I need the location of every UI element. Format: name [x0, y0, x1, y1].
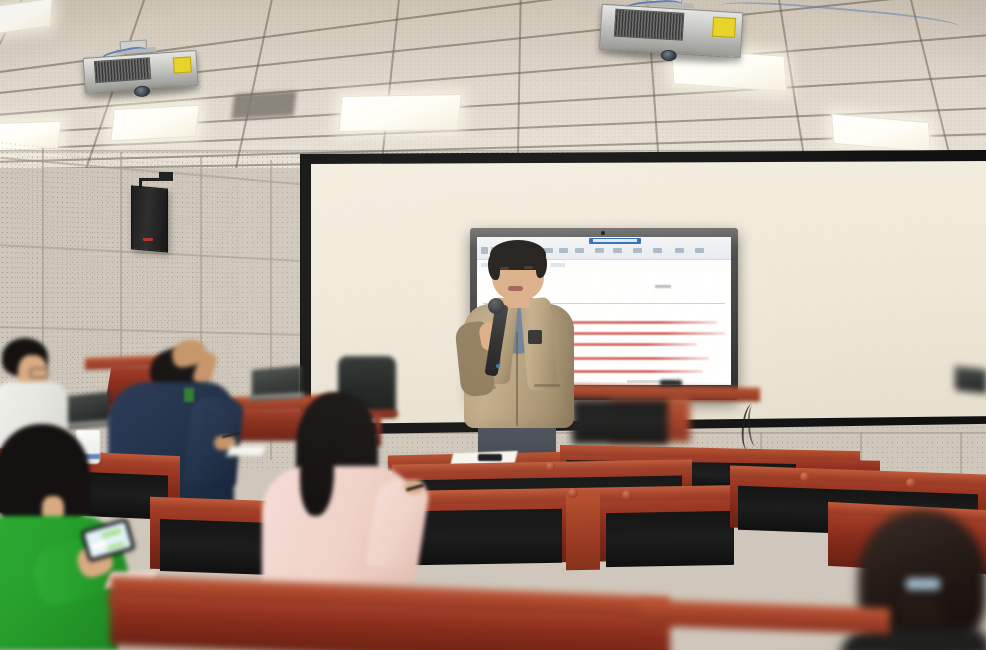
projector-vent-grille	[94, 57, 151, 83]
presenter-eye	[500, 267, 509, 270]
presenter	[452, 236, 592, 476]
toolbar-icon[interactable]	[675, 248, 684, 253]
ceiling-projector-left	[82, 42, 198, 110]
presenter-mouth	[508, 286, 523, 291]
projector-warning-label	[712, 17, 736, 38]
desk-post-cap	[546, 462, 555, 471]
desk-post-cap	[622, 490, 632, 500]
projector-warning-label	[172, 56, 192, 73]
air-return-vent	[232, 91, 297, 118]
lanyard-badge	[184, 388, 194, 402]
recessed-led-panel	[110, 105, 199, 142]
projector-vent-grille	[614, 9, 685, 41]
toolbar-icon[interactable]	[613, 248, 622, 253]
attendee-pink-hair-front	[300, 430, 334, 516]
remote-control[interactable]	[478, 454, 502, 461]
desk-post-cap	[568, 488, 578, 498]
desk-front-panel	[412, 509, 562, 566]
presenter-eye	[524, 266, 533, 269]
remote-control[interactable]	[660, 380, 682, 386]
desk-front-panel	[606, 511, 734, 567]
wall-speaker	[131, 185, 168, 252]
ceiling-projector-center	[598, 0, 742, 74]
desk-post-cap	[800, 472, 810, 482]
desk-divider-post	[566, 492, 600, 571]
toolbar-icon[interactable]	[653, 248, 662, 253]
conference-room-photo	[0, 0, 986, 650]
recessed-led-panel	[338, 94, 461, 132]
desk-post-cap	[906, 478, 916, 488]
microphone-indicator	[496, 364, 500, 368]
microphone-head	[488, 298, 504, 314]
chat-bubble-outgoing	[101, 528, 122, 538]
jacket-pocket	[534, 384, 560, 387]
laptop-screen[interactable]	[955, 366, 986, 393]
jacket-chest-patch	[528, 330, 542, 344]
presenter-hair-side	[488, 254, 500, 280]
document-title-text	[593, 239, 637, 242]
notes-paper	[226, 446, 265, 456]
foreground-desk-edge-right	[640, 600, 890, 635]
speaker-mount-arm	[140, 178, 162, 181]
panel-camera-icon	[601, 231, 605, 235]
speaker-brand-logo	[143, 238, 153, 241]
document-header-mark	[655, 285, 671, 288]
chat-bubble-incoming	[91, 541, 108, 550]
presenter-hair-side	[536, 254, 547, 278]
toolbar-icon[interactable]	[595, 248, 604, 253]
toolbar-icon[interactable]	[633, 248, 642, 253]
glasses-icon	[30, 368, 48, 378]
chat-bubble-outgoing	[107, 542, 125, 551]
hair-tie	[906, 578, 940, 590]
toolbar-icon[interactable]	[695, 248, 704, 253]
jacket-zip	[516, 332, 518, 426]
